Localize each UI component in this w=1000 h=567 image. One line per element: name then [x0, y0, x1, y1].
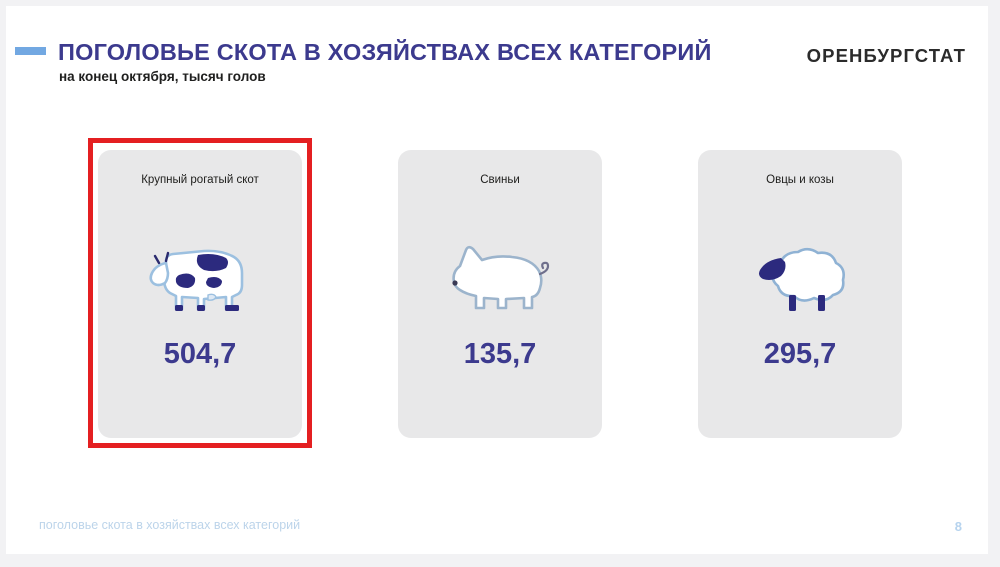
slide-canvas: ПОГОЛОВЬЕ СКОТА В ХОЗЯЙСТВАХ ВСЕХ КАТЕГО… — [6, 6, 988, 554]
footer-caption: поголовье скота в хозяйствах всех катего… — [39, 518, 300, 532]
card-value: 504,7 — [98, 338, 302, 371]
livestock-card-group: Крупный рогатый скот — [6, 6, 988, 554]
livestock-card-pigs[interactable]: Свиньи 135,7 — [398, 150, 602, 438]
page-number: 8 — [955, 519, 962, 534]
livestock-card-sheep-goats[interactable]: Овцы и козы 295,7 — [698, 150, 902, 438]
livestock-card-cattle[interactable]: Крупный рогатый скот — [98, 150, 302, 438]
card-value: 135,7 — [398, 338, 602, 371]
card-label: Свиньи — [398, 174, 602, 186]
card-label: Овцы и козы — [698, 174, 902, 186]
card-label: Крупный рогатый скот — [98, 174, 302, 186]
card-value: 295,7 — [698, 338, 902, 371]
cow-icon — [98, 230, 302, 325]
pig-icon — [398, 230, 602, 325]
sheep-icon — [698, 230, 902, 325]
